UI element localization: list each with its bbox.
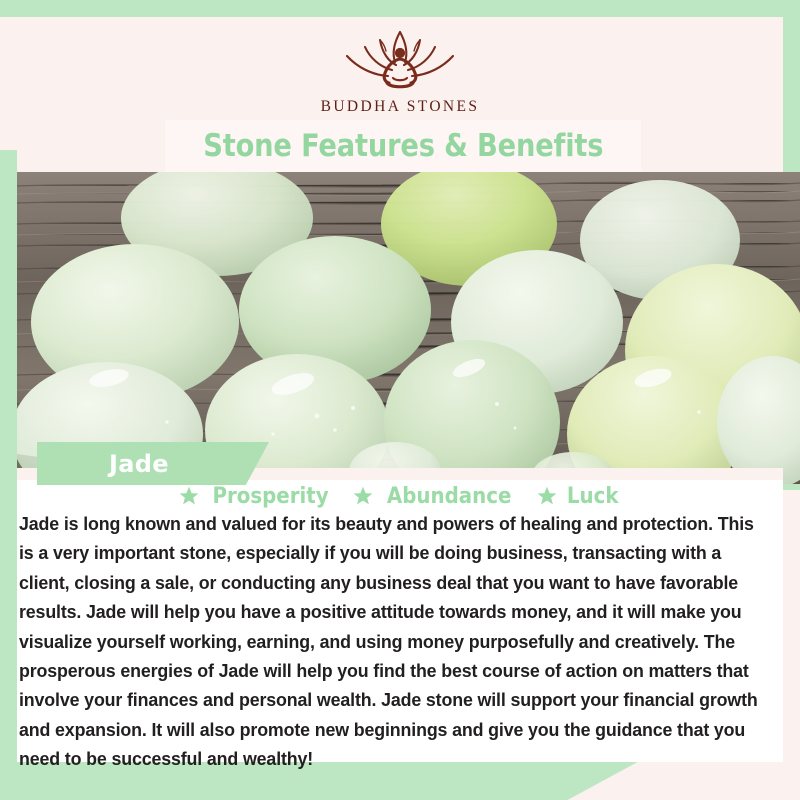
star-icon: [537, 486, 557, 506]
keyword-item: Abundance: [353, 484, 518, 509]
star-icon: [353, 486, 373, 506]
keyword-item: Luck: [537, 484, 621, 509]
brand-logo: BUDDHA STONES: [17, 17, 783, 120]
content-area: Prosperity Abundance Luck Jade: [17, 468, 783, 762]
stone-name-bar: Jade: [37, 442, 269, 485]
decorative-left-band: [0, 150, 17, 800]
brand-wordmark: BUDDHA STONES: [321, 98, 480, 116]
keyword-item: Prosperity: [179, 484, 335, 509]
decorative-top-band: [0, 0, 800, 17]
star-icon: [179, 486, 199, 506]
keyword-label: Prosperity: [213, 484, 329, 509]
lotus-meditation-icon: [325, 26, 475, 96]
page-title: Stone Features & Benefits: [203, 128, 603, 164]
keyword-label: Luck: [566, 484, 618, 509]
jade-tumbled-stones-photo: [17, 172, 800, 484]
stone-description: Jade is long known and valued for its be…: [19, 510, 770, 775]
title-banner: Stone Features & Benefits: [165, 120, 641, 172]
stone-name-label: Jade: [37, 450, 169, 478]
keyword-label: Abundance: [387, 484, 511, 509]
stone-info-card: BUDDHA STONES Stone Features & Benefits: [0, 0, 800, 800]
